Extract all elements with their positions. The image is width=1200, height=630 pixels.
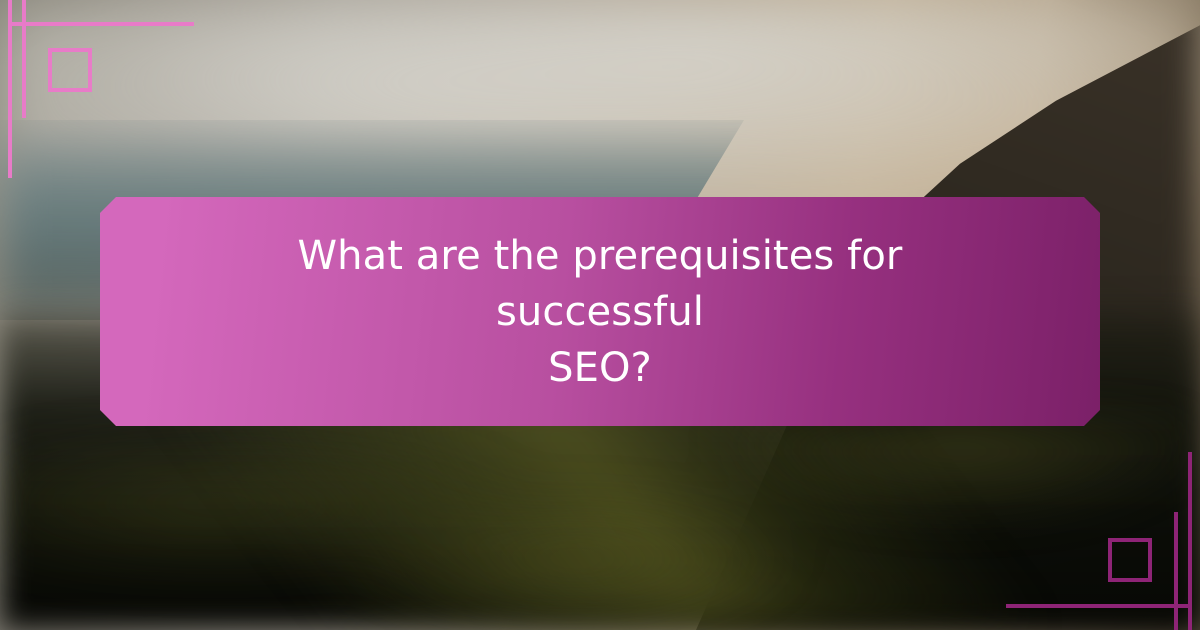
banner-title-text: What are the prerequisites for successfu… [220,228,980,396]
corner-bracket-top-left [0,0,210,210]
bracket-square-tl [48,48,92,92]
title-banner: What are the prerequisites for successfu… [100,197,1100,426]
bracket-line-tl-vertical-outer [8,0,12,178]
corner-bracket-bottom-right [990,420,1200,630]
bracket-line-br-horizontal [1006,604,1192,608]
bracket-line-br-vertical-outer [1188,452,1192,630]
bracket-square-br [1108,538,1152,582]
bracket-line-tl-vertical-inner [22,0,26,118]
bracket-line-tl-horizontal [8,22,194,26]
bracket-line-br-vertical-inner [1174,512,1178,630]
share-card: What are the prerequisites for successfu… [0,0,1200,630]
background-olive-ridge [0,390,1200,630]
background-olive-patches [0,420,1200,630]
